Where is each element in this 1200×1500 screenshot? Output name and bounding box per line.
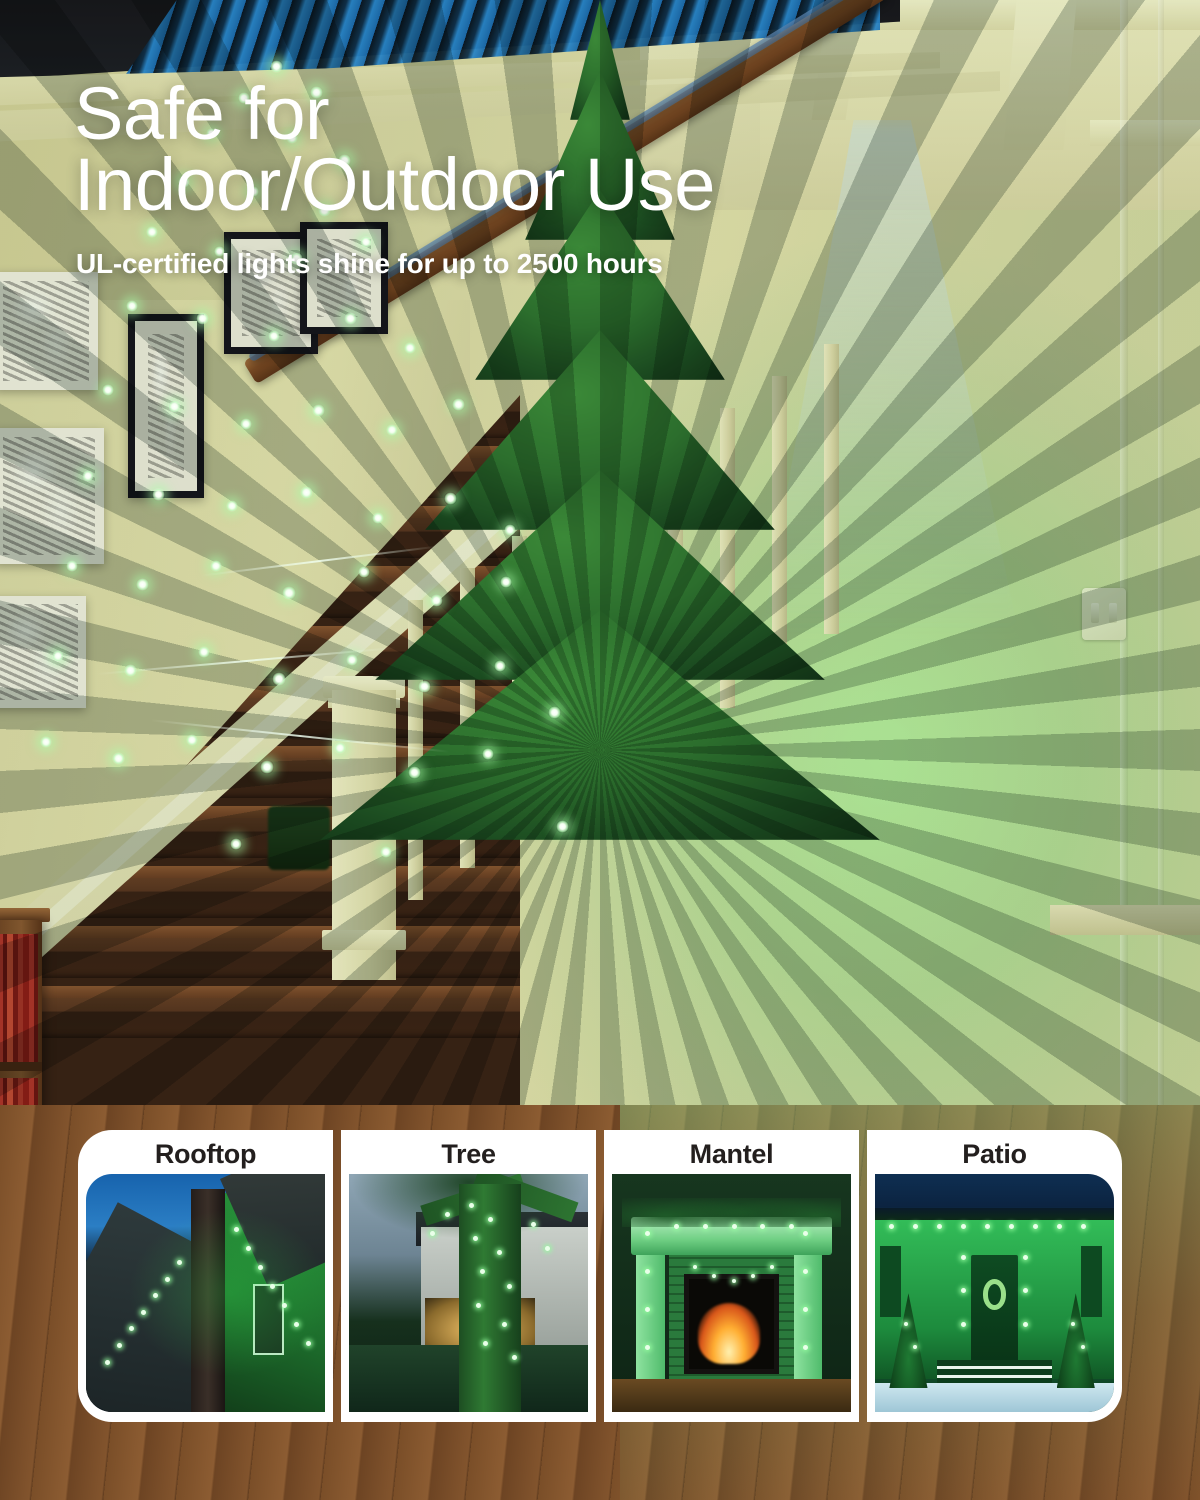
- mantel-thumbnail: [612, 1174, 851, 1412]
- page-title: Safe for Indoor/Outdoor Use: [74, 78, 1054, 220]
- use-case-card-tree[interactable]: Tree: [341, 1130, 596, 1422]
- card-label: Tree: [441, 1136, 495, 1172]
- patio-thumbnail: [875, 1174, 1114, 1412]
- card-label: Patio: [962, 1136, 1027, 1172]
- rooftop-thumbnail: [86, 1174, 325, 1412]
- card-label: Mantel: [690, 1136, 774, 1172]
- subtitle: UL-certified lights shine for up to 2500…: [76, 248, 976, 280]
- use-case-card-rooftop[interactable]: Rooftop: [78, 1130, 333, 1422]
- use-case-card-strip: Rooftop: [78, 1130, 1122, 1422]
- card-label: Rooftop: [155, 1136, 256, 1172]
- use-case-card-patio[interactable]: Patio: [867, 1130, 1122, 1422]
- product-feature-image: Safe for Indoor/Outdoor Use UL-certified…: [0, 0, 1200, 1500]
- use-case-card-mantel[interactable]: Mantel: [604, 1130, 859, 1422]
- tree-thumbnail: [349, 1174, 588, 1412]
